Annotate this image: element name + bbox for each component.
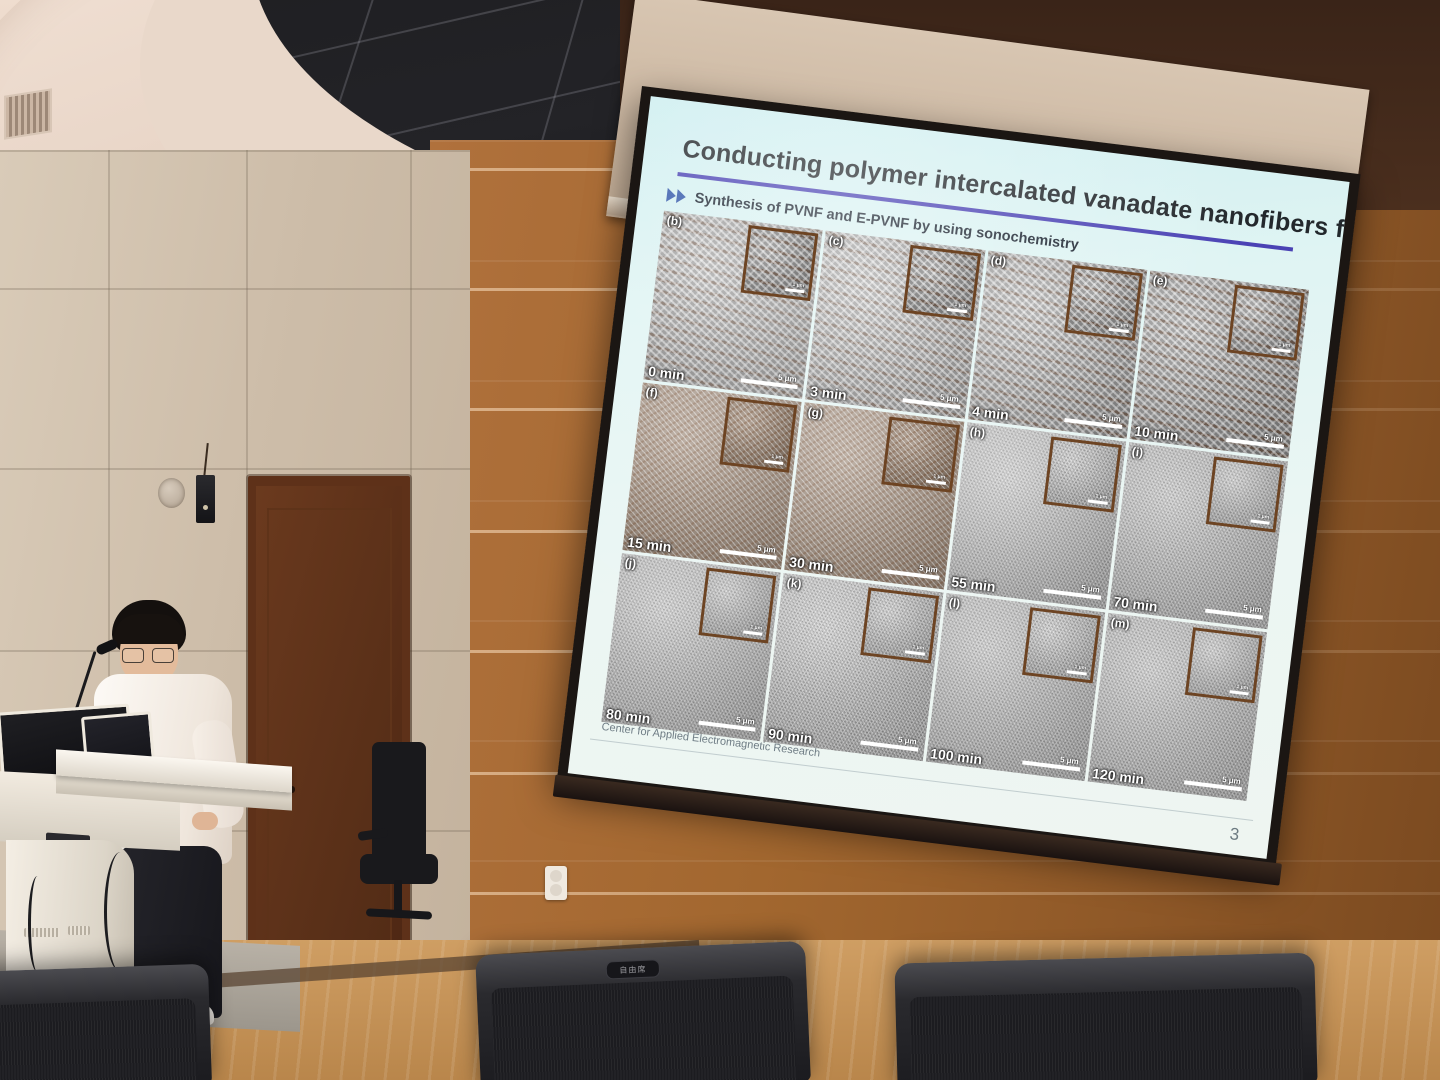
inset-scale-label: 1 μm [933, 473, 945, 480]
inset-scale-label: 1 μm [1116, 321, 1128, 328]
inset-scale-label: 1 μm [1257, 513, 1269, 520]
inset-scale-label: 1 μm [1236, 684, 1248, 691]
scale-bar-label: 5 μm [1102, 412, 1122, 423]
inset-scale-label: 1 μm [1278, 341, 1290, 348]
sem-inset: 1 μm [881, 416, 959, 492]
micrograph-panel: 1 μm(h)55 min5 μm [946, 422, 1126, 610]
glasses-icon [122, 648, 174, 661]
sem-inset: 1 μm [1022, 608, 1100, 684]
slide-page-number: 3 [1229, 824, 1241, 845]
scale-bar-label: 5 μm [940, 392, 960, 403]
micrograph-panel: 1 μm(g)30 min5 μm [784, 402, 964, 590]
seat-label-text: 自由席 [607, 960, 660, 978]
audience-seat[interactable] [894, 953, 1317, 1080]
micrograph-panel: 1 μm(d)4 min5 μm [967, 250, 1147, 438]
panel-label: (k) [786, 576, 802, 592]
micrograph-panel: 1 μm(b)0 min5 μm [643, 211, 823, 399]
panel-label: (l) [948, 596, 961, 611]
panel-label: (j) [624, 556, 637, 571]
screenshot-root: Conducting polymer intercalated vanadate… [0, 0, 1440, 1080]
audience-seat[interactable]: 自由席 [475, 941, 811, 1080]
micrograph-panel: 1 μm(k)90 min5 μm [763, 573, 943, 761]
panel-label: (h) [969, 424, 986, 440]
scale-bar-label: 5 μm [778, 372, 798, 383]
power-outlet-icon [545, 866, 567, 900]
panel-label: (c) [828, 233, 844, 249]
sem-inset: 1 μm [1043, 436, 1121, 512]
micrograph-panel: 1 μm(f)15 min5 μm [622, 382, 802, 570]
sem-inset: 1 μm [698, 568, 776, 644]
panel-label: (b) [666, 213, 683, 229]
presentation-slide: Conducting polymer intercalated vanadate… [568, 96, 1350, 859]
inset-scale-label: 1 μm [1074, 664, 1086, 671]
wall-speaker-icon [158, 478, 185, 508]
sem-inset: 1 μm [1064, 265, 1142, 341]
inset-scale-label: 1 μm [771, 453, 783, 460]
inset-scale-label: 1 μm [954, 302, 966, 309]
micrograph-grid: 1 μm(b)0 min5 μm1 μm(c)3 min5 μm1 μm(d)4… [601, 211, 1309, 801]
inset-scale-label: 1 μm [792, 282, 804, 289]
micrograph-panel: 1 μm(m)120 min5 μm [1087, 613, 1267, 801]
scale-bar-label: 5 μm [1264, 432, 1284, 443]
sem-inset: 1 μm [1205, 456, 1283, 532]
panel-label: (f) [645, 384, 659, 399]
sem-inset: 1 μm [1226, 285, 1304, 361]
panel-label: (e) [1152, 273, 1168, 289]
micrograph-panel: 1 μm(c)3 min5 μm [805, 231, 985, 419]
sem-inset: 1 μm [1184, 627, 1262, 703]
projection-screen[interactable]: Conducting polymer intercalated vanadate… [557, 86, 1361, 869]
office-chair[interactable] [360, 742, 436, 932]
inset-scale-label: 1 μm [750, 624, 762, 631]
micrograph-panel: 1 μm(j)80 min5 μm [601, 553, 781, 741]
double-chevron-icon [666, 187, 694, 208]
micrograph-panel: 1 μm(l)100 min5 μm [925, 593, 1105, 781]
sem-inset: 1 μm [740, 225, 818, 301]
panel-label: (g) [807, 404, 824, 420]
sem-inset: 1 μm [902, 245, 980, 321]
audience-seat[interactable] [0, 964, 212, 1080]
inset-scale-label: 1 μm [912, 644, 924, 651]
panel-label: (d) [990, 253, 1007, 269]
micrograph-panel: 1 μm(i)70 min5 μm [1108, 442, 1288, 630]
sem-inset: 1 μm [719, 396, 797, 472]
lecture-hall-room: Conducting polymer intercalated vanadate… [0, 0, 1440, 1080]
micrograph-panel: 1 μm(e)10 min5 μm [1129, 270, 1309, 458]
seat-label-plate: 自由席 [606, 959, 661, 979]
sem-inset: 1 μm [860, 588, 938, 664]
panel-label: (m) [1110, 616, 1130, 632]
air-vent-icon [4, 88, 52, 140]
wireless-receiver-icon [196, 475, 215, 523]
panel-label: (i) [1131, 444, 1144, 459]
inset-scale-label: 1 μm [1095, 493, 1107, 500]
